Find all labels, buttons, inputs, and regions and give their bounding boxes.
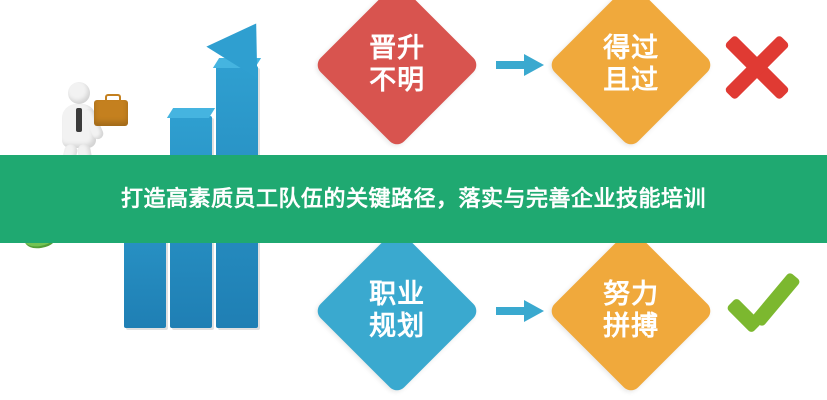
arrow-head: [524, 54, 544, 76]
node-label: 晋升 不明: [369, 33, 425, 97]
title-banner: 打造高素质员工队伍的关键路径，落实与完善企业技能培训: [0, 155, 827, 243]
diagram-node-career-planning: 职业 规划: [314, 228, 481, 395]
banner-title: 打造高素质员工队伍的关键路径，落实与完善企业技能培训: [97, 183, 730, 215]
diagram-node-muddle-along: 得过 且过: [548, 0, 715, 148]
arrow-head: [524, 300, 544, 322]
node-label: 职业 规划: [369, 279, 425, 343]
diagram-node-work-hard: 努力 拼搏: [548, 228, 715, 395]
arrow-shaft: [496, 61, 526, 69]
briefcase-icon: [94, 100, 128, 126]
check-stroke-long: [751, 272, 801, 328]
cross-mark-icon: [718, 28, 796, 106]
check-mark-icon: [722, 272, 804, 346]
node-label: 努力 拼搏: [603, 279, 659, 343]
figure-head: [68, 82, 90, 104]
figure-tie: [76, 108, 82, 132]
arrow-right-icon-bottom: [496, 300, 544, 322]
arrow-shaft: [496, 307, 526, 315]
node-label: 得过 且过: [603, 33, 659, 97]
growth-bar-2-top: [167, 108, 215, 118]
diagram-node-promotion-unclear: 晋升 不明: [314, 0, 481, 148]
arrow-right-icon-top: [496, 54, 544, 76]
illustration-canvas: SUCCESS 晋升 不明 得过 且过 职业 规划 努力 拼搏: [0, 0, 827, 400]
